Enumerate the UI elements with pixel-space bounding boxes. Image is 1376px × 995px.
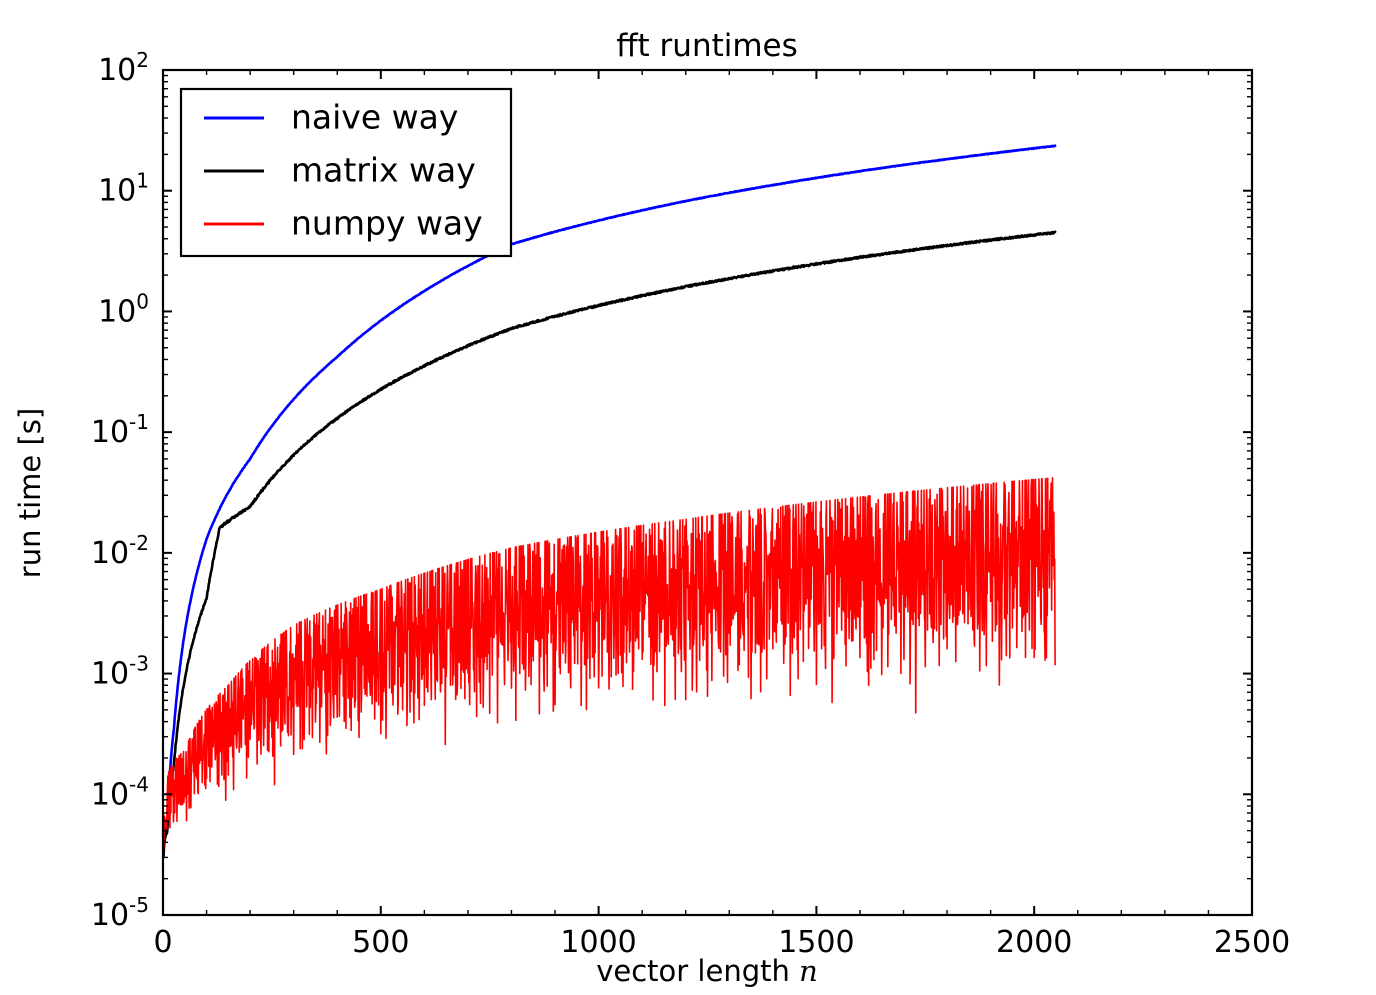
legend-label-numpy-way: numpy way	[291, 204, 483, 243]
x-axis-title-text: vector length	[596, 954, 790, 988]
y-tick-label: 10-2	[91, 531, 149, 571]
x-tick-label: 2000	[996, 925, 1072, 960]
y-tick-label: 101	[98, 169, 149, 209]
y-tick-label: 10-5	[91, 893, 149, 933]
x-axis-title-math: n	[799, 954, 818, 988]
chart-title: fft runtimes	[616, 28, 798, 64]
legend[interactable]: naive waymatrix waynumpy way	[181, 89, 511, 256]
y-tick-label: 10-3	[91, 652, 149, 692]
x-axis-title: vector length n	[596, 954, 818, 988]
y-tick-label: 10-4	[91, 772, 149, 812]
y-tick-label: 100	[98, 289, 149, 329]
figure-canvas: 05001000150020002500 10-510-410-310-210-…	[0, 0, 1376, 995]
y-tick-label: 10-1	[91, 410, 149, 450]
x-tick-label: 500	[352, 925, 409, 960]
x-tick-label: 2500	[1214, 925, 1290, 960]
legend-label-naive-way: naive way	[291, 98, 458, 137]
legend-label-matrix-way: matrix way	[291, 151, 476, 190]
x-tick-label: 0	[153, 925, 172, 960]
y-tick-label-group: 10-510-410-310-210-1100101102	[91, 48, 149, 933]
svg-text:vector length n: vector length n	[596, 954, 818, 988]
y-tick-label: 102	[98, 48, 149, 88]
y-axis-title: run time [s]	[13, 408, 47, 578]
chart-svg: 05001000150020002500 10-510-410-310-210-…	[0, 0, 1376, 995]
